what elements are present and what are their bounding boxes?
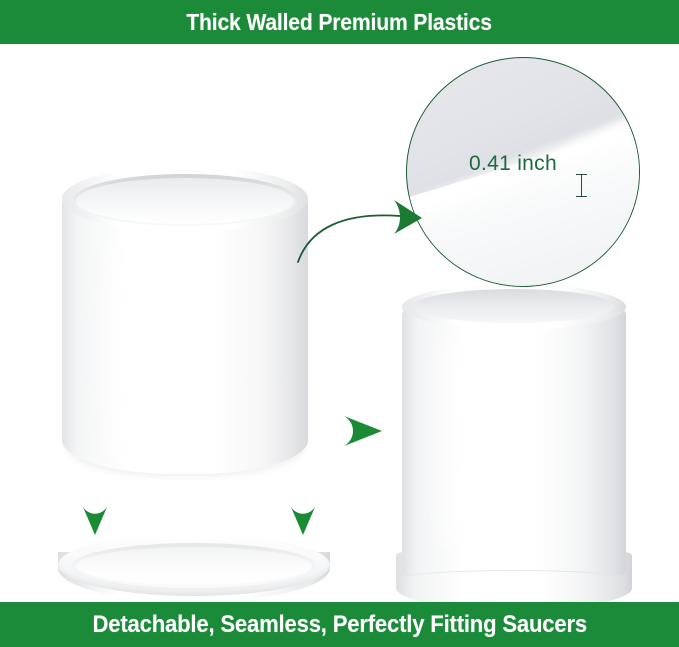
wall-thickness-magnifier: 0.41 inch [406,57,640,287]
pot-right-rim-inner [414,289,614,323]
planter-pot-right-assembled [396,284,632,614]
planter-pot-left [62,166,308,496]
saucer-well [72,543,316,588]
product-infographic: Thick Walled Premium Plastics [0,0,679,647]
pot-left-rim-inner [73,174,297,226]
caliper-cap-bottom [576,196,587,197]
chevron-down-icon [290,506,316,536]
wall-thickness-label: 0.41 inch [469,152,557,176]
product-illustration-stage: 0.41 inch [0,44,679,602]
pot-right-highlight [422,336,476,550]
chevron-down-icon [82,506,108,536]
caliper-bar [581,175,582,197]
curved-leader-arrow-icon [296,194,440,266]
pot-right-saucer-seam [400,570,628,587]
arrow-right-icon [342,414,386,448]
top-banner-text: Thick Walled Premium Plastics [187,9,493,36]
bottom-banner: Detachable, Seamless, Perfectly Fitting … [0,602,679,647]
top-banner: Thick Walled Premium Plastics [0,0,679,44]
pot-left-highlight [86,236,148,462]
bottom-banner-text: Detachable, Seamless, Perfectly Fitting … [92,611,587,639]
caliper-measure-icon [576,174,588,198]
